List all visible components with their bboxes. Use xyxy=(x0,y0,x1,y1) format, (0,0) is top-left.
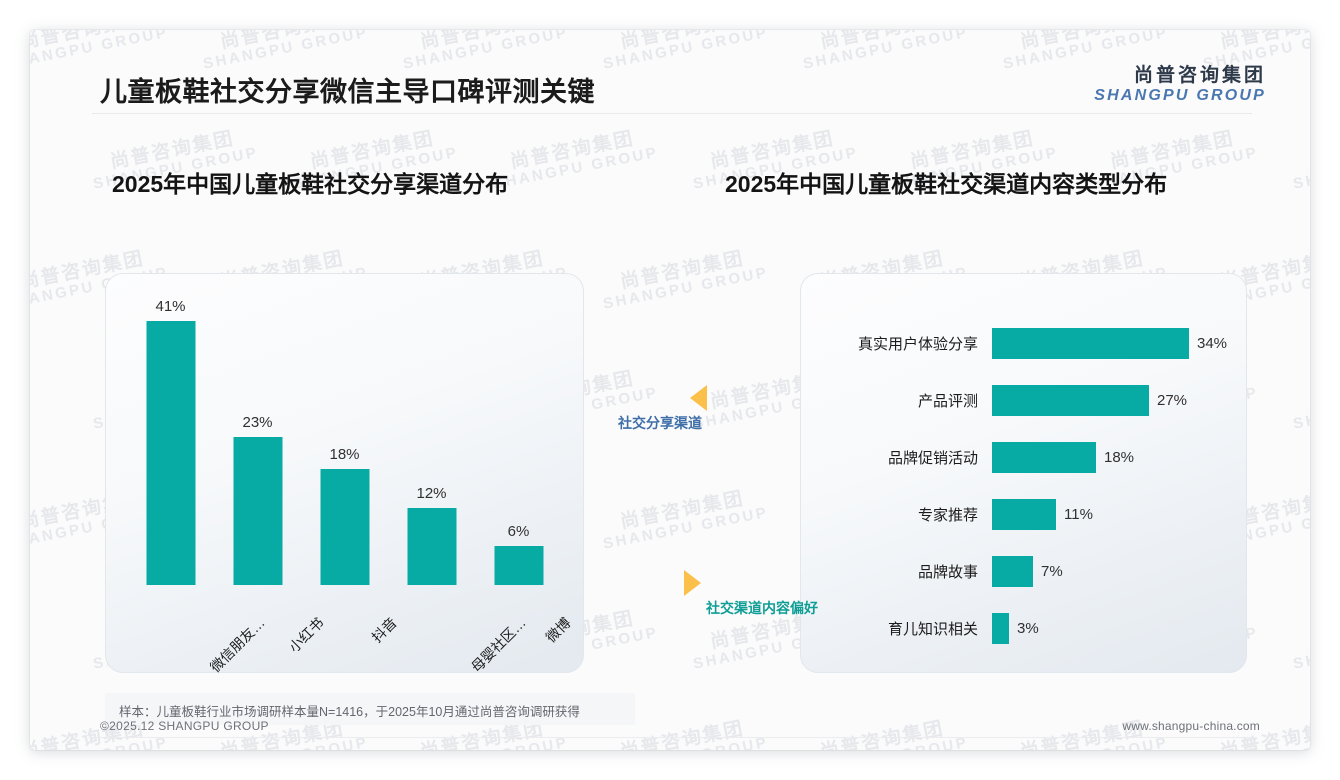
watermark-tile: 尚普咨询集团SHANGPU GROUP xyxy=(798,714,970,750)
column-bar[interactable] xyxy=(494,546,543,585)
brand-name-cn: 尚普咨询集团 xyxy=(1094,66,1266,86)
bar-category-label: 品牌促销活动 xyxy=(800,447,992,468)
bar-category-label: 品牌故事 xyxy=(800,561,992,582)
left-chart-title: 2025年中国儿童板鞋社交分享渠道分布 xyxy=(112,165,508,199)
copyright-text: ©2025.12 SHANGPU GROUP xyxy=(100,719,269,733)
bar-row[interactable]: 专家推荐11% xyxy=(800,494,1245,534)
bar-row[interactable]: 品牌促销活动18% xyxy=(800,437,1245,477)
bar-row[interactable]: 产品评测27% xyxy=(800,380,1245,420)
header-divider xyxy=(92,113,1252,114)
column-bar-group[interactable]: 18% xyxy=(307,295,382,585)
watermark-tile: 尚普咨询集团SHANGPU GROUP xyxy=(1288,124,1310,193)
column-axis-label: 微博 xyxy=(541,613,575,647)
bar-value-label: 7% xyxy=(1041,563,1063,580)
column-bar-group[interactable]: 12% xyxy=(394,295,469,585)
bar-row[interactable]: 品牌故事7% xyxy=(800,551,1245,591)
bar-value-label: 34% xyxy=(1197,335,1227,352)
column-bar-group[interactable]: 6% xyxy=(481,295,556,585)
footer-divider xyxy=(92,737,1252,738)
sample-footnote: 样本：儿童板鞋行业市场调研样本量N=1416，于2025年10月通过尚普咨询调研… xyxy=(119,701,580,720)
annotation-label: 社交分享渠道 xyxy=(618,415,702,431)
bar-value-label: 27% xyxy=(1157,392,1187,409)
column-value-label: 6% xyxy=(508,523,530,540)
column-plot-area: 41%微信朋友…23%小红书18%抖音12%母婴社区…6%微博 xyxy=(127,295,562,585)
bar-fill[interactable] xyxy=(992,385,1149,416)
column-bar-group[interactable]: 41% xyxy=(133,295,208,585)
column-value-label: 23% xyxy=(242,414,272,431)
bar-category-label: 专家推荐 xyxy=(800,504,992,525)
watermark-tile: 尚普咨询集团SHANGPU GROUP xyxy=(1288,604,1310,673)
column-axis-label: 母婴社区… xyxy=(466,613,530,677)
bar-category-label: 产品评测 xyxy=(800,390,992,411)
bar-fill[interactable] xyxy=(992,442,1096,473)
column-bar-group[interactable]: 23% xyxy=(220,295,295,585)
slide-page: 尚普咨询集团SHANGPU GROUP尚普咨询集团SHANGPU GROUP尚普… xyxy=(30,30,1310,750)
right-chart-title: 2025年中国儿童板鞋社交渠道内容类型分布 xyxy=(725,165,1167,199)
bar-value-label: 18% xyxy=(1104,449,1134,466)
column-bar[interactable] xyxy=(320,469,369,585)
social-share-channel-column-chart: 41%微信朋友…23%小红书18%抖音12%母婴社区…6%微博 xyxy=(105,273,582,671)
slide-header: 儿童板鞋社交分享微信主导口碑评测关键 尚普咨询集团 SHANGPU GROUP xyxy=(30,30,1310,108)
bar-row[interactable]: 育儿知识相关3% xyxy=(800,608,1245,648)
annotation-content-preference: 社交渠道内容偏好 xyxy=(706,598,818,618)
screenshot-stage: 尚普咨询集团SHANGPU GROUP尚普咨询集团SHANGPU GROUP尚普… xyxy=(0,0,1340,780)
column-value-label: 41% xyxy=(155,298,185,315)
bar-category-label: 育儿知识相关 xyxy=(800,618,992,639)
watermark-tile: 尚普咨询集团SHANGPU GROUP xyxy=(488,124,660,193)
bar-fill[interactable] xyxy=(992,556,1033,587)
brand-name-en: SHANGPU GROUP xyxy=(1094,88,1266,105)
column-bar[interactable] xyxy=(407,508,456,585)
content-type-bar-chart: 真实用户体验分享34%产品评测27%品牌促销活动18%专家推荐11%品牌故事7%… xyxy=(800,273,1245,671)
watermark-tile: 尚普咨询集团SHANGPU GROUP xyxy=(598,244,770,313)
bar-category-label: 真实用户体验分享 xyxy=(800,333,992,354)
column-value-label: 12% xyxy=(416,485,446,502)
watermark-tile: 尚普咨询集团SHANGPU GROUP xyxy=(1288,364,1310,433)
watermark-tile: 尚普咨询集团SHANGPU GROUP xyxy=(598,484,770,553)
annotation-social-share-channel: 社交分享渠道 xyxy=(618,413,702,433)
bar-fill[interactable] xyxy=(992,499,1056,530)
triangle-right-icon xyxy=(684,570,701,596)
bar-fill[interactable] xyxy=(992,613,1009,644)
triangle-left-icon xyxy=(690,385,707,411)
column-axis-label: 小红书 xyxy=(284,613,328,657)
column-axis-label: 微信朋友… xyxy=(205,613,269,677)
page-title: 儿童板鞋社交分享微信主导口碑评测关键 xyxy=(100,70,595,109)
bar-row[interactable]: 真实用户体验分享34% xyxy=(800,323,1245,363)
column-bar[interactable] xyxy=(146,321,195,585)
bar-fill[interactable] xyxy=(992,328,1189,359)
bar-value-label: 11% xyxy=(1064,506,1093,523)
brand-logo: 尚普咨询集团 SHANGPU GROUP xyxy=(1094,66,1266,105)
website-link[interactable]: www.shangpu-china.com xyxy=(1122,719,1260,733)
column-bar[interactable] xyxy=(233,437,282,585)
column-value-label: 18% xyxy=(329,446,359,463)
bar-value-label: 3% xyxy=(1017,620,1039,637)
column-axis-label: 抖音 xyxy=(367,613,401,647)
annotation-label: 社交渠道内容偏好 xyxy=(706,600,818,616)
